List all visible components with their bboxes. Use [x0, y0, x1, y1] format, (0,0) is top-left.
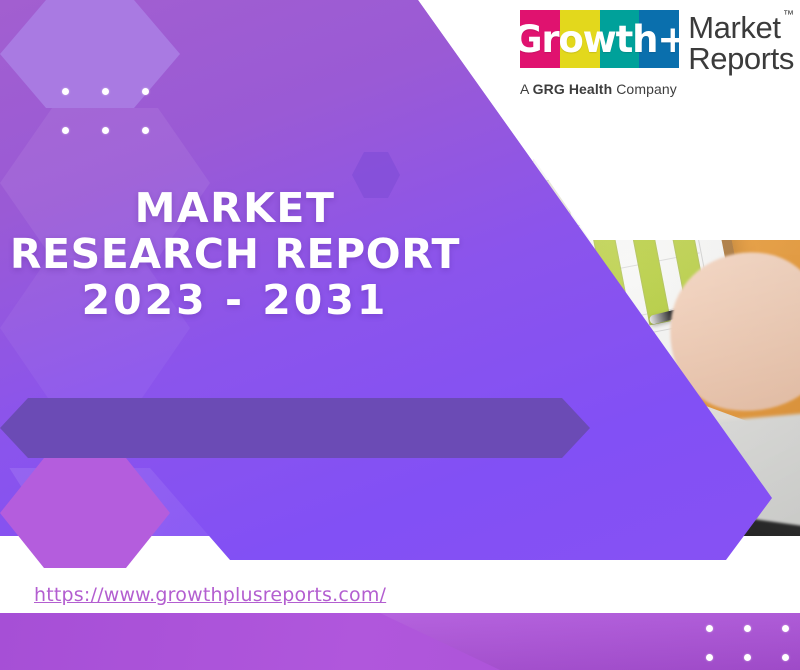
logo-tagline-suffix: Company [612, 81, 677, 97]
logo-primary-row: Growth+ Market ™ Reports [520, 10, 794, 74]
title-line-2: RESEARCH REPORT [0, 232, 470, 278]
dot [744, 625, 751, 632]
logo-tagline: A GRG Health Company [520, 81, 794, 97]
dot [744, 654, 751, 661]
dot [782, 625, 789, 632]
hexagon-band-dark [0, 398, 590, 458]
dot [102, 127, 109, 134]
dot [62, 88, 69, 95]
logo-color-mark: Growth+ [520, 10, 679, 68]
dot [142, 127, 149, 134]
website-url-link[interactable]: https://www.growthplusreports.com/ [34, 584, 386, 606]
logo-brand-line-1: Market ™ [688, 12, 780, 43]
logo-brand-line-2: Reports [688, 43, 794, 74]
logo-tagline-prefix: A [520, 81, 533, 97]
dot-grid-top-left [62, 88, 148, 134]
dot [782, 654, 789, 661]
dot [102, 88, 109, 95]
logo-brand-words: Market ™ Reports [688, 10, 794, 74]
logo-wordmark: Growth+ [520, 10, 679, 68]
dot [706, 654, 713, 661]
logo-tagline-bold: GRG Health [533, 81, 613, 97]
company-logo[interactable]: Growth+ Market ™ Reports A GRG Health Co… [520, 10, 794, 97]
title-line-3: 2023 - 2031 [0, 278, 470, 324]
dot [706, 625, 713, 632]
page-title: MARKET RESEARCH REPORT 2023 - 2031 [0, 186, 470, 324]
dot [142, 88, 149, 95]
logo-brand-market-text: Market [688, 10, 780, 45]
trademark-icon: ™ [783, 10, 794, 21]
title-line-1: MARKET [0, 186, 470, 232]
dot-grid-bottom-right [706, 625, 780, 659]
dot [62, 127, 69, 134]
report-cover: Growth+ Market ™ Reports A GRG Health Co… [0, 0, 800, 670]
